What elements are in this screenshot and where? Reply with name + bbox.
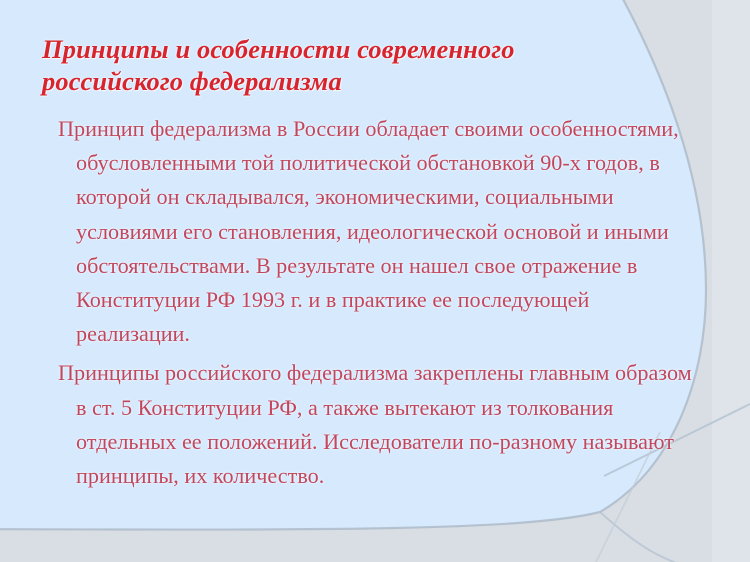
body-paragraph-1: Принцип федерализма в России обладает св… (46, 112, 696, 351)
body-paragraph-2: Принципы российского федерализма закрепл… (46, 356, 696, 493)
slide-title: Принципы и особенности современного росс… (42, 33, 582, 98)
slide-body: Принцип федерализма в России обладает св… (46, 112, 696, 493)
slide-content: Принципы и особенности современного росс… (0, 0, 750, 562)
presentation-slide: Принципы и особенности современного росс… (0, 0, 750, 562)
